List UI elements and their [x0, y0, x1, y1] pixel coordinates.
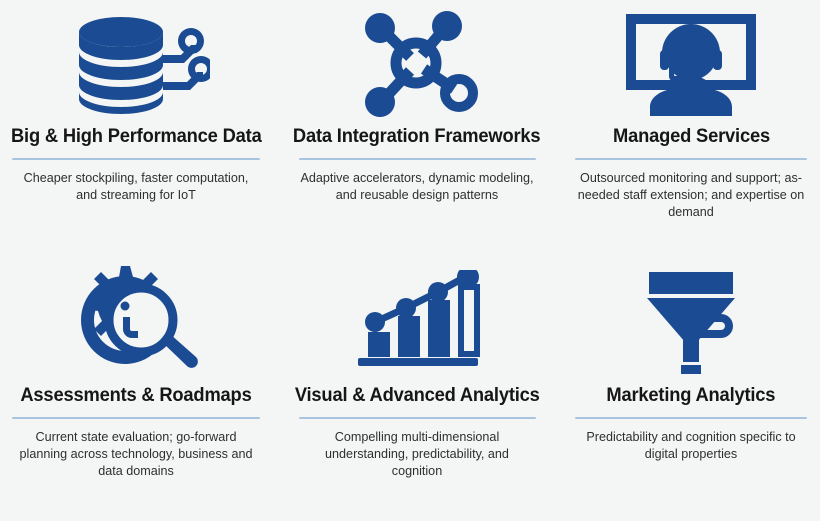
database-icon	[0, 0, 276, 125]
card-title: Marketing Analytics	[605, 384, 778, 406]
support-agent-monitor-icon	[562, 0, 820, 125]
title-divider	[575, 158, 807, 160]
card-managed-services: Managed Services Outsourced monitoring a…	[562, 0, 820, 260]
card-big-high-performance-data: Big & High Performance Data Cheaper stoc…	[0, 0, 272, 260]
title-divider	[299, 158, 536, 160]
funnel-icon	[562, 260, 820, 380]
card-title: Big & High Performance Data	[9, 125, 263, 147]
card-visual-advanced-analytics: Visual & Advanced Analytics Compelling m…	[272, 260, 562, 521]
card-description: Cheaper stockpiling, faster computation,…	[14, 170, 258, 204]
title-divider	[12, 158, 260, 160]
title-divider	[575, 417, 807, 419]
card-description: Outsourced monitoring and support; as-ne…	[566, 170, 816, 221]
card-description: Predictability and cognition specific to…	[572, 429, 810, 463]
gear-magnifier-icon	[0, 260, 272, 380]
card-title: Visual & Advanced Analytics	[293, 384, 542, 406]
card-description: Current state evaluation; go-forward pla…	[10, 429, 262, 480]
card-data-integration-frameworks: Data Integration Frameworks Adaptive acc…	[272, 0, 562, 260]
title-divider	[12, 417, 260, 419]
card-title: Managed Services	[611, 125, 772, 147]
card-description: Compelling multi-dimensional understandi…	[295, 429, 539, 480]
title-divider	[299, 417, 536, 419]
card-description: Adaptive accelerators, dynamic modeling,…	[289, 170, 545, 204]
card-title: Data Integration Frameworks	[291, 125, 542, 147]
cards-grid: Big & High Performance Data Cheaper stoc…	[0, 0, 820, 521]
card-marketing-analytics: Marketing Analytics Predictability and c…	[562, 260, 820, 521]
network-nodes-icon	[272, 0, 562, 125]
services-grid-infographic: Big & High Performance Data Cheaper stoc…	[0, 0, 820, 521]
card-title: Assessments & Roadmaps	[19, 384, 254, 406]
card-assessments-roadmaps: Assessments & Roadmaps Current state eva…	[0, 260, 272, 521]
bar-chart-trend-icon	[272, 260, 562, 380]
